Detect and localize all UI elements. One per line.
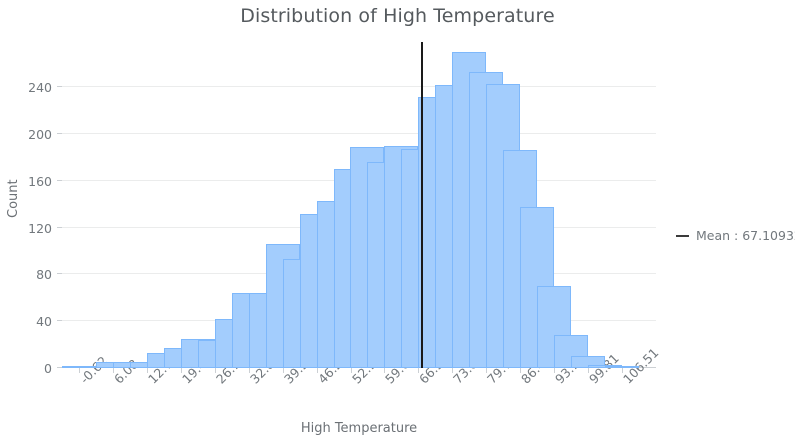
x-axis-title: High Temperature [62,421,656,436]
y-tick-label: 200 [8,127,52,142]
histogram-bars [62,45,656,368]
plot-area: 04080120160200240 -0.626.0812.7719.4726.… [62,45,656,368]
y-tick-label: 80 [8,267,52,282]
y-tick-label: 40 [8,314,52,329]
histogram-bar [605,366,639,368]
y-tick-label: 160 [8,174,52,189]
y-tick-label: 0 [8,361,52,376]
y-tick-label: 120 [8,221,52,236]
chart-title: Distribution of High Temperature [0,5,795,27]
y-tick-label: 240 [8,80,52,95]
mean-vline [421,42,423,368]
legend-line-icon [676,235,689,237]
histogram-chart: Distribution of High Temperature Count H… [0,0,795,442]
legend: Mean : 67.10932 [676,228,795,243]
legend-label-mean: Mean : 67.10932 [696,228,795,243]
